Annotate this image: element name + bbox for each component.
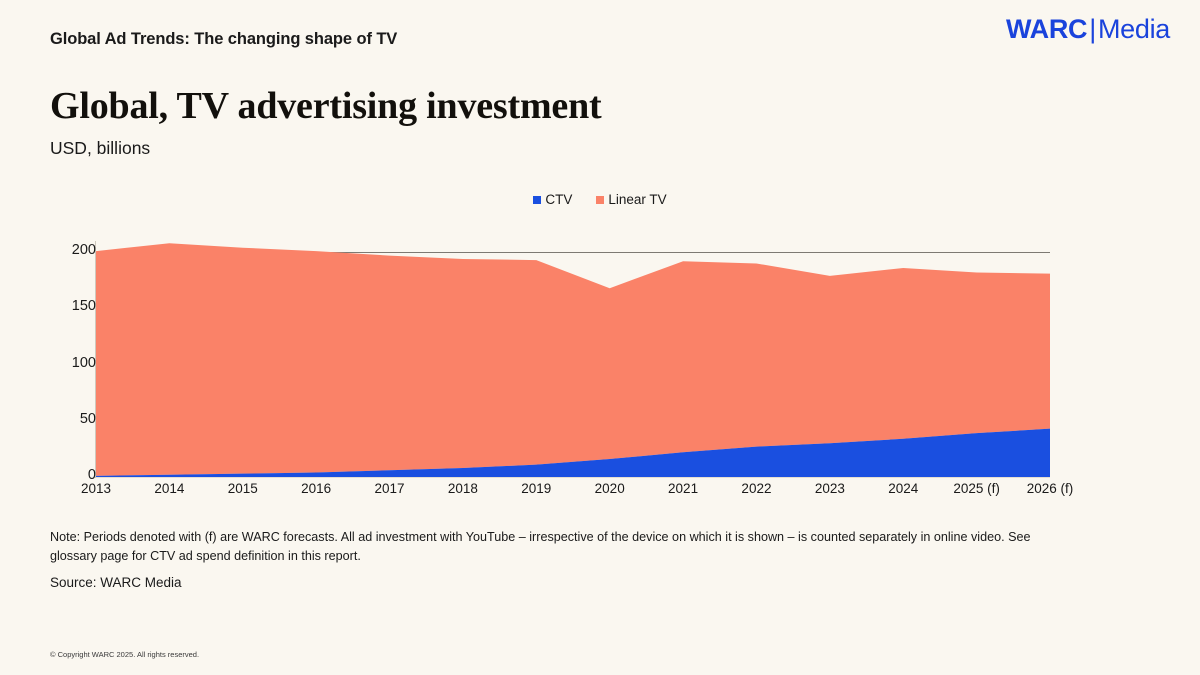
x-tick-label-2025f: 2025 (f) (953, 481, 1000, 496)
x-tick-label-2013: 2013 (81, 481, 111, 496)
logo-separator-icon: | (1087, 14, 1098, 44)
x-tick-label-2016: 2016 (301, 481, 331, 496)
gridline-0 (96, 477, 1050, 478)
page-subtitle: USD, billions (50, 138, 150, 159)
copyright-notice: © Copyright WARC 2025. All rights reserv… (50, 650, 199, 659)
chart-note: Note: Periods denoted with (f) are WARC … (50, 528, 1080, 566)
x-tick-label-2022: 2022 (741, 481, 771, 496)
x-tick-label-2021: 2021 (668, 481, 698, 496)
x-tick-label-2026f: 2026 (f) (1027, 481, 1074, 496)
x-tick-label-2019: 2019 (521, 481, 551, 496)
plot-area (96, 241, 1050, 477)
x-tick-label-2015: 2015 (228, 481, 258, 496)
legend-label-linear-tv: Linear TV (608, 192, 666, 207)
chart-source: Source: WARC Media (50, 575, 182, 590)
legend-swatch-ctv-icon (533, 196, 541, 204)
page-kicker: Global Ad Trends: The changing shape of … (50, 30, 397, 49)
x-tick-label-2023: 2023 (815, 481, 845, 496)
page-title: Global, TV advertising investment (50, 84, 602, 128)
x-tick-label-2017: 2017 (375, 481, 405, 496)
slide-root: Global Ad Trends: The changing shape of … (0, 0, 1200, 675)
x-tick-label-2014: 2014 (154, 481, 184, 496)
x-axis-labels: 2013201420152016201720182019202020212022… (96, 481, 1050, 503)
y-tick-label-200: 200 (16, 242, 96, 258)
y-tick-label-50: 50 (16, 411, 96, 427)
x-tick-label-2020: 2020 (595, 481, 625, 496)
legend-swatch-linear-tv-icon (596, 196, 604, 204)
y-tick-label-100: 100 (16, 355, 96, 371)
logo-media-text: Media (1098, 14, 1170, 44)
stacked-area-series[interactable] (96, 241, 1050, 477)
legend-item-ctv[interactable]: CTV (533, 192, 572, 207)
logo-warc-text: WARC (1006, 14, 1087, 44)
warc-media-logo: WARC|Media (1006, 14, 1170, 45)
y-tick-label-150: 150 (16, 298, 96, 314)
chart-legend: CTV Linear TV (0, 192, 1200, 207)
x-tick-label-2024: 2024 (888, 481, 918, 496)
x-tick-label-2018: 2018 (448, 481, 478, 496)
chart-container: 050100150200 201320142015201620172018201… (0, 225, 1200, 500)
legend-item-linear-tv[interactable]: Linear TV (596, 192, 666, 207)
legend-label-ctv: CTV (545, 192, 572, 207)
